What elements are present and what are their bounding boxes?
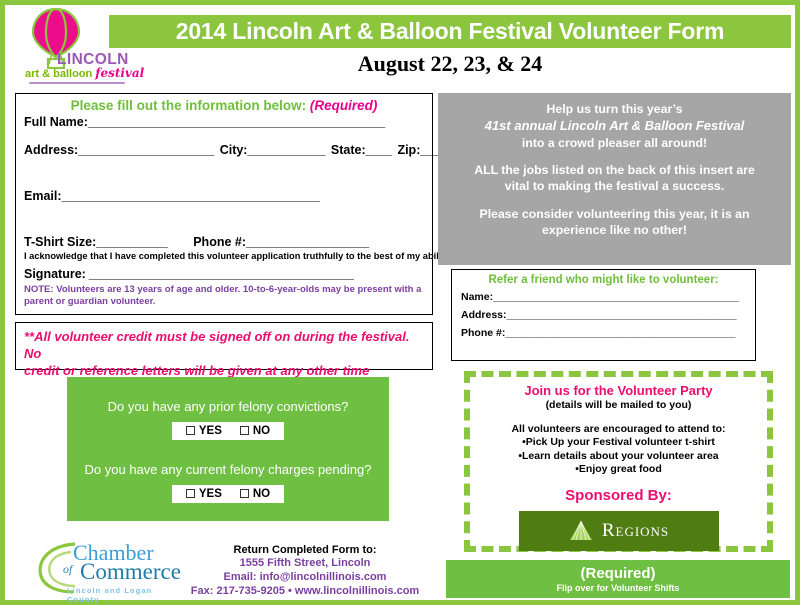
regions-sponsor-logo: Regions (519, 511, 719, 551)
party-details: All volunteers are encouraged to attend … (470, 423, 767, 477)
tshirt-label: T-Shirt Size: (24, 235, 96, 249)
credit-warning-line1: **All volunteer credit must be signed of… (24, 328, 424, 362)
form-heading: Please fill out the information below: (… (24, 98, 424, 113)
refer-name-label: Name: (461, 291, 493, 303)
footer-required-bar: (Required) Flip over for Volunteer Shift… (446, 560, 790, 598)
refer-address-rule: ________________________________________… (507, 309, 737, 321)
address-rule: _____________________ (78, 143, 214, 157)
logo-sub-plain: art & balloon (25, 68, 95, 80)
refer-name-rule: ________________________________________… (493, 291, 739, 303)
checkbox-yes-2[interactable] (186, 489, 195, 498)
refer-friend-box: Refer a friend who might like to volunte… (451, 269, 756, 361)
address-city-state-zip-row[interactable]: Address:_____________________City:______… (24, 143, 424, 157)
chamber-word-of: of (63, 562, 72, 577)
return-email[interactable]: Email: info@lincolnillinois.com (180, 571, 430, 585)
party-bullet-0: •Pick Up your Festival volunteer t-shirt (470, 436, 767, 449)
promo-line-5: vital to making the festival a success. (452, 178, 777, 194)
refer-address-label: Address: (461, 309, 507, 321)
chamber-tagline: Lincoln and Logan County (67, 586, 180, 604)
refer-phone-rule: ________________________________________… (505, 327, 735, 339)
credit-warning-box: **All volunteer credit must be signed of… (15, 322, 433, 370)
volunteer-form-page: LINCOLN art & balloon festival 2014 Linc… (0, 0, 800, 605)
zip-label: Zip: (397, 143, 420, 157)
yes-label-1: YES (199, 425, 222, 437)
promo-line-2: 41st annual Lincoln Art & Balloon Festiv… (452, 117, 777, 134)
refer-phone-field[interactable]: Phone #:________________________________… (461, 327, 746, 339)
festival-dates: August 22, 23, & 24 (109, 51, 791, 77)
return-fax-web[interactable]: Fax: 217-735-9205 • www.lincolnillinois.… (180, 585, 430, 599)
felony-answer-group-1[interactable]: YESNO (172, 422, 284, 440)
form-heading-main: Please fill out the information below: (71, 98, 310, 113)
party-intro: All volunteers are encouraged to attend … (470, 423, 767, 436)
party-subtitle: (details will be mailed to you) (470, 399, 767, 411)
logo-underline (29, 82, 125, 84)
return-street: 1555 Fifth Street, Lincoln (180, 557, 430, 571)
acknowledgement-text: I acknowledge that I have completed this… (24, 251, 452, 261)
felony-question-1: Do you have any prior felony convictions… (67, 399, 389, 414)
age-note: NOTE: Volunteers are 13 years of age and… (24, 284, 428, 307)
page-title: 2014 Lincoln Art & Balloon Festival Volu… (176, 18, 725, 45)
page-title-bar: 2014 Lincoln Art & Balloon Festival Volu… (109, 15, 791, 48)
no-label-1: NO (253, 425, 270, 437)
promo-line-6: Please consider volunteering this year, … (452, 206, 777, 222)
full-name-field[interactable]: Full Name:______________________________… (24, 115, 424, 129)
full-name-label: Full Name: (24, 115, 88, 129)
footer-flip-label: Flip over for Volunteer Shifts (557, 583, 680, 593)
regions-wordmark: Regions (602, 520, 669, 542)
form-heading-required: (Required) (310, 98, 378, 113)
refer-name-field[interactable]: Name:___________________________________… (461, 291, 746, 303)
promo-line-4: ALL the jobs listed on the back of this … (452, 162, 777, 178)
refer-heading: Refer a friend who might like to volunte… (461, 274, 746, 286)
address-label: Address: (24, 143, 78, 157)
volunteer-party-box: Join us for the Volunteer Party (details… (464, 371, 773, 552)
phone-rule: ___________________ (246, 235, 369, 249)
refer-phone-label: Phone #: (461, 327, 505, 339)
applicant-info-box: Please fill out the information below: (… (15, 93, 433, 315)
chamber-word-commerce: Commerce (80, 560, 181, 583)
return-heading: Return Completed Form to: (180, 544, 430, 556)
footer-required-label: (Required) (581, 565, 656, 582)
checkbox-no-1[interactable] (240, 426, 249, 435)
return-address-block: Return Completed Form to: 1555 Fifth Str… (180, 544, 430, 599)
promo-line-7: experience like no other! (452, 222, 777, 238)
signature-field[interactable]: Signature: _____________________________… (24, 267, 353, 281)
city-rule: ____________ (247, 143, 324, 157)
yes-label-2: YES (199, 488, 222, 500)
party-title: Join us for the Volunteer Party (470, 383, 767, 398)
refer-address-field[interactable]: Address:________________________________… (461, 309, 746, 321)
felony-question-2: Do you have any current felony charges p… (67, 462, 389, 477)
email-rule: ________________________________________ (62, 189, 320, 203)
checkbox-yes-1[interactable] (186, 426, 195, 435)
state-label: State: (331, 143, 366, 157)
full-name-rule: ________________________________________… (88, 115, 385, 129)
signature-label: Signature: (24, 267, 86, 281)
regions-pyramid-icon (568, 519, 594, 543)
promo-line-1: Help us turn this year’s (452, 101, 777, 117)
chamber-of-commerce-logo: Chamber of Commerce Lincoln and Logan Co… (35, 538, 180, 600)
felony-questions-box: Do you have any prior felony convictions… (67, 377, 389, 521)
sponsored-by-label: Sponsored By: (470, 487, 767, 504)
no-label-2: NO (253, 488, 270, 500)
promo-line-3: into a crowd pleaser all around! (452, 135, 777, 151)
tshirt-phone-row[interactable]: T-Shirt Size:___________Phone #:________… (24, 235, 424, 249)
state-rule: ____ (366, 143, 392, 157)
felony-answer-group-2[interactable]: YESNO (172, 485, 284, 503)
party-bullet-2: •Enjoy great food (470, 463, 767, 476)
email-field[interactable]: Email:__________________________________… (24, 189, 424, 203)
party-bullet-1: •Learn details about your volunteer area (470, 450, 767, 463)
city-label: City: (220, 143, 248, 157)
promo-panel: Help us turn this year’s 41st annual Lin… (438, 93, 791, 265)
phone-label: Phone #: (193, 235, 246, 249)
checkbox-no-2[interactable] (240, 489, 249, 498)
email-label: Email: (24, 189, 62, 203)
signature-rule: ________________________________________… (86, 267, 354, 281)
tshirt-rule: ___________ (96, 235, 167, 249)
